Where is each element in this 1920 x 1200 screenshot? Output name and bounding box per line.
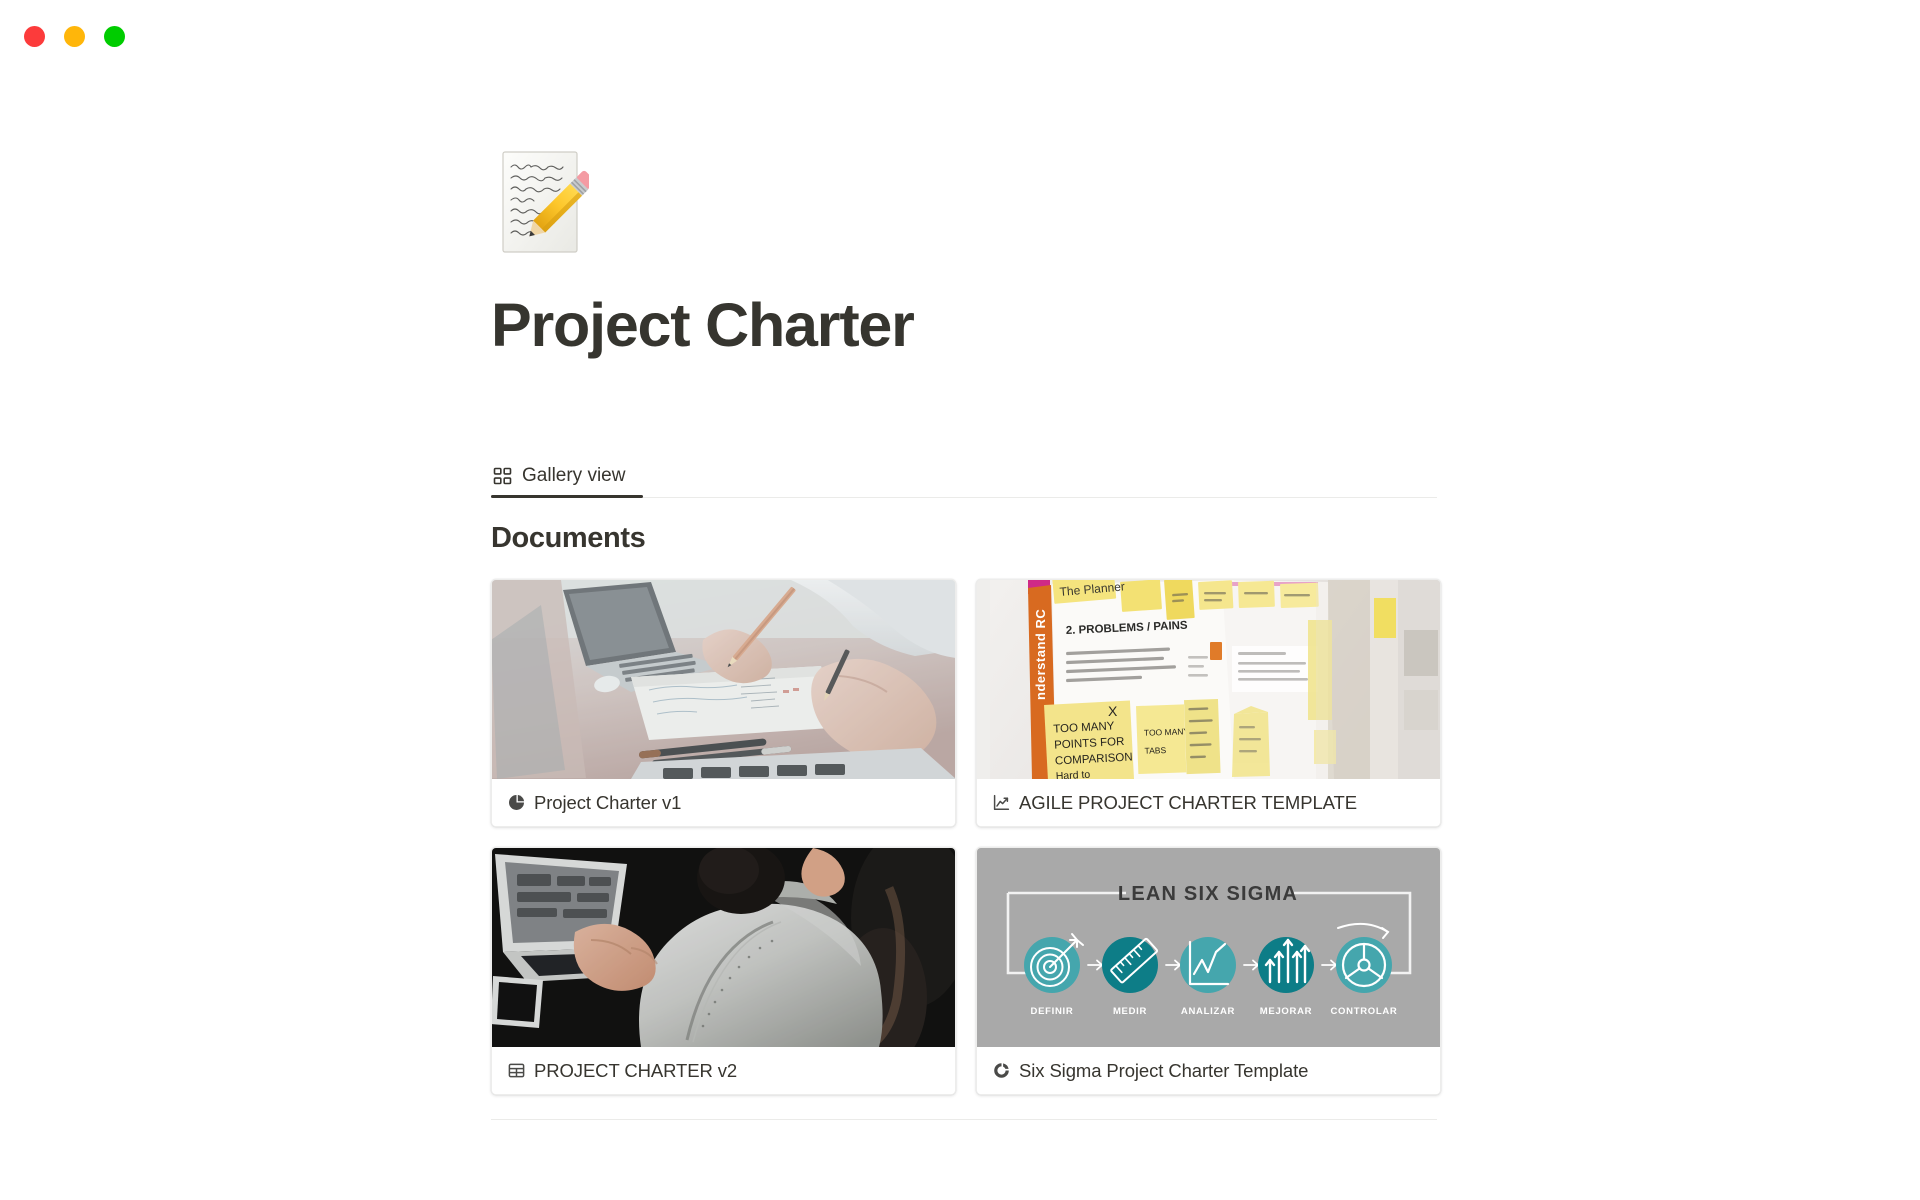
card-caption: Six Sigma Project Charter Template	[977, 1047, 1440, 1094]
section-heading[interactable]: Documents	[491, 522, 1437, 555]
svg-text:TOO MANY: TOO MANY	[1144, 726, 1190, 738]
table-icon	[508, 1062, 525, 1079]
content-column: Project Charter Gallery view	[491, 150, 1437, 1120]
svg-text:ANALIZAR: ANALIZAR	[1181, 1006, 1235, 1017]
view-tabs-bar: Gallery view	[491, 456, 1437, 498]
gallery-card[interactable]: Project Charter v1	[491, 579, 956, 827]
gallery-card[interactable]: nderstand RC 2. PROBLEMS / PAINS	[976, 579, 1441, 827]
card-cover-image: LEAN SIX SIGMA DEFINIR	[977, 848, 1440, 1047]
svg-text:LEAN SIX SIGMA: LEAN SIX SIGMA	[1118, 883, 1298, 905]
gallery-grid: Project Charter v1	[491, 579, 1437, 1095]
card-cover-image	[492, 580, 955, 779]
gallery-card[interactable]: PROJECT CHARTER v2	[491, 847, 956, 1095]
card-cover-image	[492, 848, 955, 1047]
svg-text:DEFINIR: DEFINIR	[1031, 1006, 1074, 1017]
svg-text:TABS: TABS	[1144, 745, 1166, 756]
tab-label: Gallery view	[522, 465, 625, 487]
card-caption: Project Charter v1	[492, 779, 955, 826]
gallery-grid-icon	[493, 467, 512, 486]
page-title[interactable]: Project Charter	[491, 290, 1437, 360]
section-bottom-divider	[491, 1119, 1437, 1120]
card-caption: PROJECT CHARTER v2	[492, 1047, 955, 1094]
svg-text:Hard to: Hard to	[1055, 769, 1090, 779]
page-body: Project Charter Gallery view	[0, 0, 1920, 1200]
svg-text:X: X	[1108, 703, 1118, 719]
line-chart-icon	[993, 794, 1010, 811]
memo-emoji-icon[interactable]	[501, 150, 589, 258]
card-title: Six Sigma Project Charter Template	[1019, 1060, 1308, 1082]
pie-chart-icon	[508, 794, 525, 811]
svg-text:CONTROLAR: CONTROLAR	[1331, 1006, 1398, 1017]
card-title: PROJECT CHARTER v2	[534, 1060, 737, 1082]
svg-text:MEJORAR: MEJORAR	[1260, 1006, 1312, 1017]
card-caption: AGILE PROJECT CHARTER TEMPLATE	[977, 779, 1440, 826]
svg-text:MEDIR: MEDIR	[1113, 1006, 1147, 1017]
card-title: Project Charter v1	[534, 792, 681, 814]
tab-gallery-view[interactable]: Gallery view	[491, 456, 643, 496]
card-cover-image: nderstand RC 2. PROBLEMS / PAINS	[977, 580, 1440, 779]
svg-text:nderstand RC: nderstand RC	[1033, 609, 1048, 700]
donut-chart-icon	[993, 1062, 1010, 1079]
gallery-card[interactable]: LEAN SIX SIGMA DEFINIR	[976, 847, 1441, 1095]
card-title: AGILE PROJECT CHARTER TEMPLATE	[1019, 792, 1357, 814]
